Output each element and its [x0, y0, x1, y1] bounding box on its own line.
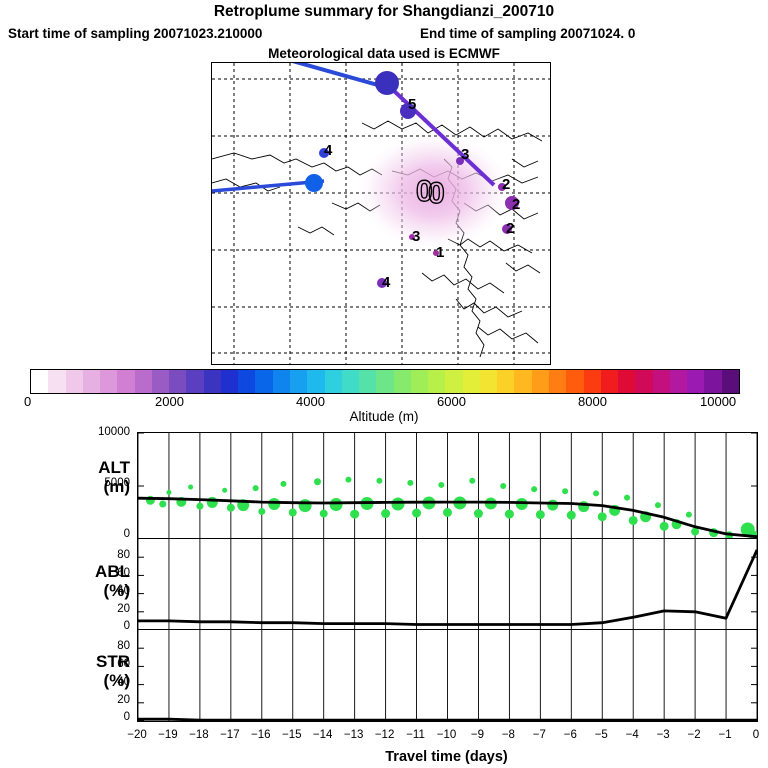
colorbar-label: Altitude (m) [0, 409, 768, 424]
colorbar-segment [135, 370, 152, 393]
colorbar-segment [618, 370, 635, 393]
colorbar-segment [722, 370, 739, 393]
colorbar-segment [204, 370, 221, 393]
colorbar-segment [48, 370, 65, 393]
met-data-text: Meteorological data used is ECMWF [0, 46, 768, 61]
str-ytick-0: 0 [72, 711, 130, 723]
colorbar-tick-0: 0 [24, 394, 31, 409]
svg-text:2: 2 [512, 196, 520, 213]
colorbar-segment [152, 370, 169, 393]
altitude-colorbar [30, 369, 740, 394]
abl-ytick-40: 40 [72, 585, 130, 597]
colorbar-segment [653, 370, 670, 393]
colorbar-segment [584, 370, 601, 393]
colorbar-segment [480, 370, 497, 393]
abl-ytick-20: 20 [72, 603, 130, 615]
retroplume-map: 5 4 3 2 2 2 3 1 4 0 0 [211, 62, 551, 365]
colorbar-segment [359, 370, 376, 393]
colorbar-segment [100, 370, 117, 393]
colorbar-segment [445, 370, 462, 393]
end-time-text: End time of sampling 20071024. 0 [420, 26, 768, 41]
colorbar-segment [670, 370, 687, 393]
alt-plot [137, 432, 758, 540]
abl-ytick-0: 0 [72, 620, 130, 632]
colorbar-segment [687, 370, 704, 393]
colorbar-segment [394, 370, 411, 393]
svg-text:2: 2 [506, 220, 514, 237]
alt-ytick-5000: 5000 [72, 477, 130, 489]
colorbar-segment [307, 370, 324, 393]
colorbar-segment [704, 370, 721, 393]
colorbar-segment [186, 370, 203, 393]
x-tick-label: 0 [736, 729, 768, 741]
str-plot [137, 629, 758, 722]
colorbar-segment [532, 370, 549, 393]
colorbar-segment [428, 370, 445, 393]
colorbar-tick-4000: 4000 [296, 394, 325, 409]
colorbar-segment [514, 370, 531, 393]
abl-plot [137, 538, 758, 631]
alt-axis-label-line1: ALT [10, 458, 130, 477]
colorbar-segment [601, 370, 618, 393]
colorbar-segment [342, 370, 359, 393]
svg-text:3: 3 [412, 228, 420, 245]
abl-ytick-60: 60 [72, 567, 130, 579]
colorbar-segment [411, 370, 428, 393]
colorbar-segment [376, 370, 393, 393]
abl-ytick-80: 80 [72, 549, 130, 561]
colorbar-tick-2000: 2000 [155, 394, 184, 409]
colorbar-segment [169, 370, 186, 393]
colorbar-segment [497, 370, 514, 393]
colorbar-tick-10000: 10000 [700, 394, 736, 409]
x-axis-label: Travel time (days) [137, 749, 756, 765]
colorbar-segment [635, 370, 652, 393]
alt-ytick-10000: 10000 [72, 426, 130, 438]
svg-text:1: 1 [436, 244, 444, 261]
svg-text:0: 0 [428, 177, 445, 210]
colorbar-tick-8000: 8000 [578, 394, 607, 409]
svg-text:4: 4 [324, 142, 333, 159]
str-ytick-80: 80 [72, 640, 130, 652]
colorbar-segment [290, 370, 307, 393]
colorbar-segment [238, 370, 255, 393]
str-ytick-20: 20 [72, 694, 130, 706]
svg-text:2: 2 [502, 176, 510, 193]
alt-ytick-0: 0 [72, 528, 130, 540]
colorbar-segment [66, 370, 83, 393]
colorbar-tick-6000: 6000 [437, 394, 466, 409]
colorbar-segment [566, 370, 583, 393]
svg-text:5: 5 [408, 96, 416, 113]
svg-text:4: 4 [382, 274, 391, 291]
colorbar-segment [549, 370, 566, 393]
colorbar-segment [31, 370, 48, 393]
colorbar-segment [273, 370, 290, 393]
svg-text:3: 3 [461, 146, 469, 163]
str-ytick-40: 40 [72, 676, 130, 688]
colorbar-segment [221, 370, 238, 393]
colorbar-segment [325, 370, 342, 393]
start-time-text: Start time of sampling 20071023.210000 [8, 26, 428, 41]
colorbar-segment [117, 370, 134, 393]
colorbar-segment [463, 370, 480, 393]
str-ytick-60: 60 [72, 658, 130, 670]
page-title: Retroplume summary for Shangdianzi_20071… [0, 3, 768, 21]
colorbar-segment [255, 370, 272, 393]
colorbar-segment [83, 370, 100, 393]
